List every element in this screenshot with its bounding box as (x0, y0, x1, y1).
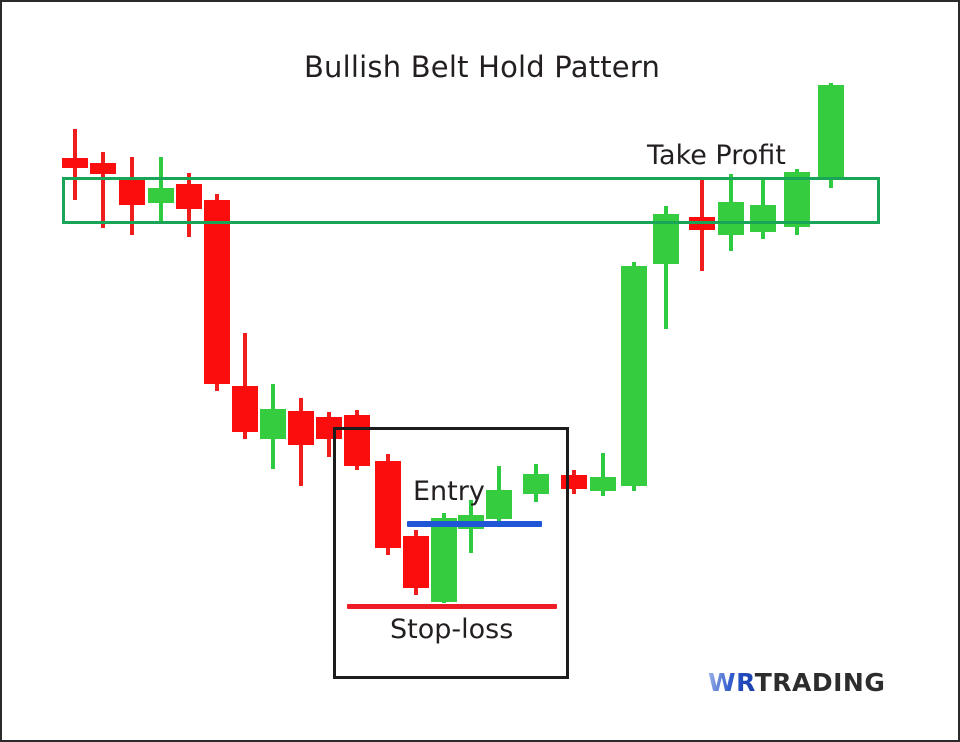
stop-loss-label: Stop-loss (390, 614, 513, 645)
take-profit-zone-box (62, 177, 880, 224)
chart-canvas: Bullish Belt Hold Pattern Take Profit En… (0, 0, 960, 742)
brand-logo: WRTRADING (708, 668, 885, 697)
take-profit-label: Take Profit (647, 140, 786, 171)
candle-body (818, 85, 844, 177)
entry-level-line (407, 521, 542, 527)
stop-loss-level-line (347, 604, 557, 609)
entry-label: Entry (413, 476, 485, 507)
brand-mark: WR (708, 668, 755, 697)
brand-wordmark: TRADING (755, 668, 886, 697)
